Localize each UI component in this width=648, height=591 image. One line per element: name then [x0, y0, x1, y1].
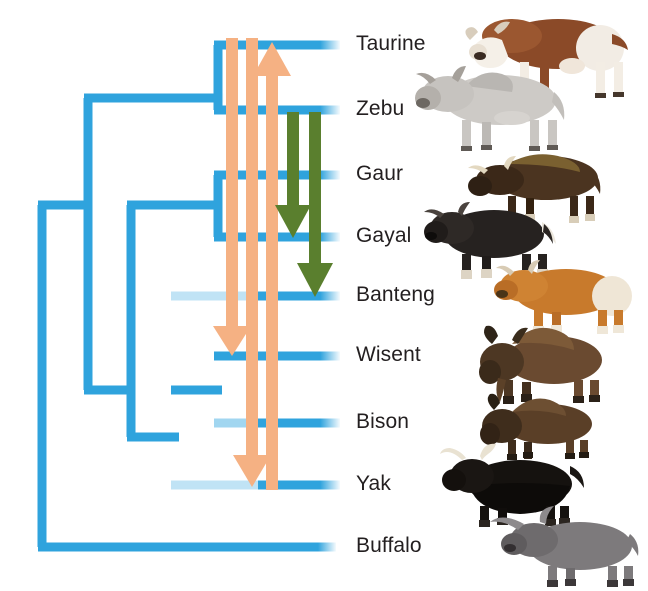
arrow-green-zebu-to-banteng: [297, 112, 333, 297]
animal-banteng: [494, 260, 632, 334]
branch-buffalo-tip: [296, 543, 336, 552]
taxon-label-banteng: Banteng: [356, 284, 435, 305]
branch-yak-tip: [296, 481, 340, 490]
animal-illustrations: [415, 19, 638, 587]
taxon-label-bison: Bison: [356, 411, 409, 432]
branch-taurine-tip: [296, 41, 340, 50]
phylogeny-figure: Taurine Zebu Gaur Gayal Banteng Wisent B…: [0, 0, 648, 591]
branch-wisent-tip: [296, 352, 340, 361]
taxon-label-yak: Yak: [356, 473, 391, 494]
branch-banteng-tip: [296, 292, 340, 301]
taxon-label-gaur: Gaur: [356, 163, 403, 184]
animal-gayal: [424, 202, 556, 279]
branch-bison-tip: [296, 419, 340, 428]
taxon-label-zebu: Zebu: [356, 98, 404, 119]
branch-taurine-zebu-fade: [176, 94, 224, 103]
animal-bison: [480, 394, 592, 460]
taxon-label-wisent: Wisent: [356, 344, 421, 365]
taxon-label-buffalo: Buffalo: [356, 535, 422, 556]
taxon-label-gayal: Gayal: [356, 225, 411, 246]
tree-diagram: [0, 0, 648, 591]
taxon-label-taurine: Taurine: [356, 33, 426, 54]
animal-wisent: [479, 326, 602, 404]
